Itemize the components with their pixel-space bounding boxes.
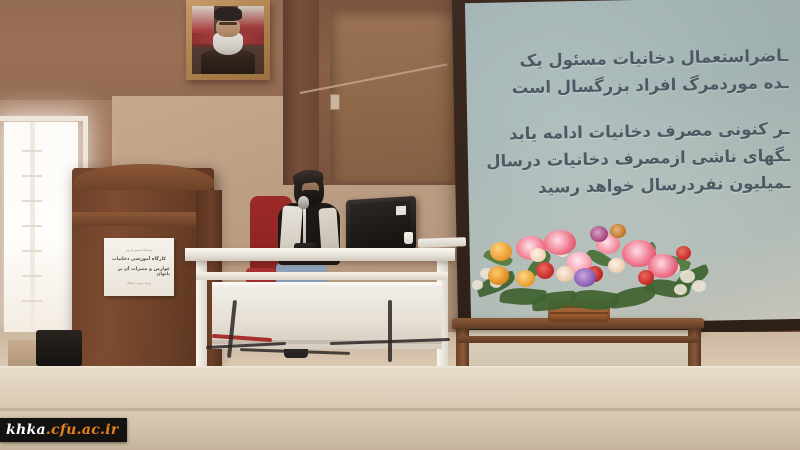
desk-cup — [404, 232, 413, 244]
loudspeaker-box — [36, 330, 82, 366]
sign-footer: روابط عمومی دانشگاه — [127, 282, 152, 285]
window-bar — [22, 200, 42, 202]
window-bar — [22, 250, 42, 252]
microphone-head — [298, 196, 309, 209]
table-top — [185, 248, 455, 261]
watermark-secondary: .cfu.ac.ir — [46, 422, 119, 438]
photograph-scene: ـاضراستعمال دخانیات مسئول یک ـده موردمرگ… — [0, 0, 800, 450]
sign-line-2: عوارض و مضرات آن بر بانوان — [108, 267, 170, 277]
wall-switch-plate — [330, 94, 340, 110]
portrait-brow — [219, 22, 238, 25]
floor-cable — [388, 300, 392, 362]
flower-arrangement — [470, 218, 720, 324]
portrait-turban — [214, 7, 243, 21]
bench-rail — [458, 336, 698, 343]
watermark: khka .cfu.ac.ir — [0, 418, 127, 442]
framed-portrait — [186, 0, 270, 80]
window-mullion — [30, 122, 35, 334]
table-rail — [196, 272, 448, 280]
watermark-primary: khka — [6, 422, 46, 438]
window-bar — [22, 175, 42, 177]
window-bar — [22, 150, 42, 152]
laptop-label — [396, 206, 406, 216]
desk-papers — [418, 237, 466, 248]
portrait-image — [192, 6, 264, 74]
sign-line-1: کارگاه آموزشی دخانیات — [112, 257, 166, 262]
window-bar — [22, 275, 42, 277]
stage-shadow-line — [0, 408, 800, 411]
podium-sign: بسم الله الرحمن الرحیم کارگاه آموزشی دخا… — [104, 238, 174, 296]
sign-header: بسم الله الرحمن الرحیم — [126, 249, 152, 252]
window-bar — [22, 300, 42, 302]
door-inner-panel — [330, 10, 454, 182]
window-bar — [22, 225, 42, 227]
